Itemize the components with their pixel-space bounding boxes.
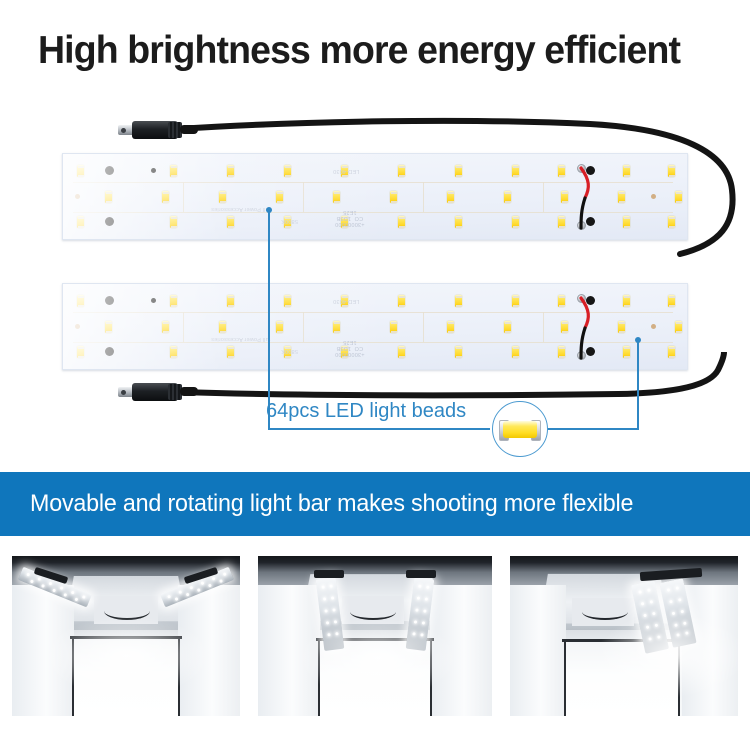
- led-bead: [77, 346, 84, 358]
- solder-pad: [75, 194, 80, 199]
- lightbox-interior: [12, 556, 240, 716]
- led-chip-inset: [492, 401, 548, 457]
- led-bead: [333, 321, 340, 333]
- infographic-page: High brightness more energy efficient: [0, 0, 750, 750]
- solder-pad: [651, 324, 656, 329]
- callout-leader-vertical-right: [637, 340, 639, 429]
- led-bead: [170, 216, 177, 228]
- led-bead: [398, 295, 405, 307]
- led-bead: [675, 321, 682, 333]
- dc-plug-bottom: [118, 380, 198, 404]
- led-bead: [284, 165, 291, 177]
- led-bead: [170, 295, 177, 307]
- led-bead: [276, 321, 283, 333]
- callout-leader-vertical-left: [268, 210, 270, 429]
- led-bead: [276, 191, 283, 203]
- led-bead: [398, 216, 405, 228]
- led-bead: [227, 165, 234, 177]
- led-board-top: LED-4030 full Power Accessories 5800K +3…: [62, 153, 688, 240]
- light-glow: [298, 618, 458, 698]
- led-bead: [447, 321, 454, 333]
- hatch-cord: [582, 604, 628, 620]
- led-bead: [162, 191, 169, 203]
- board-print-line-a: full Power Accessories: [211, 336, 270, 342]
- mount-hole: [105, 166, 114, 175]
- page-title: High brightness more energy efficient: [38, 26, 700, 76]
- led-bead: [170, 165, 177, 177]
- board-print-model: LED-4030: [333, 168, 359, 174]
- light-glow: [42, 616, 212, 696]
- led-bead: [668, 216, 675, 228]
- led-bead: [390, 191, 397, 203]
- led-bead: [623, 216, 630, 228]
- board-print-line-a: full Power Accessories: [211, 206, 270, 212]
- board-print-spec: +30000000 CO 1D3B 1E25: [335, 209, 364, 227]
- led-bead: [398, 165, 405, 177]
- led-bead: [284, 295, 291, 307]
- gallery-photo-1[interactable]: [12, 556, 240, 716]
- led-bead: [105, 191, 112, 203]
- gallery-photo-2[interactable]: [258, 556, 492, 716]
- led-bead: [668, 165, 675, 177]
- led-bead: [227, 216, 234, 228]
- solder-pad: [651, 194, 656, 199]
- lightbox-interior: [510, 556, 738, 716]
- led-bead: [219, 191, 226, 203]
- feature-banner-text: Movable and rotating light bar makes sho…: [30, 490, 633, 518]
- led-bead: [455, 165, 462, 177]
- mount-hole: [151, 168, 156, 173]
- led-bead: [77, 295, 84, 307]
- led-bead: [390, 321, 397, 333]
- mount-hole: [105, 296, 114, 305]
- led-bead: [105, 321, 112, 333]
- mount-hole: [151, 298, 156, 303]
- led-bead: [333, 191, 340, 203]
- board-print-line-b: 5800K: [281, 218, 298, 224]
- gallery-photo-3[interactable]: [510, 556, 738, 716]
- led-bead: [668, 295, 675, 307]
- callout-leader-horizontal: [268, 428, 490, 430]
- board-print-model: LED-4030: [333, 298, 359, 304]
- dc-plug-top: [118, 118, 198, 142]
- light-glow: [596, 612, 738, 698]
- led-bead: [618, 191, 625, 203]
- led-bead: [512, 295, 519, 307]
- led-bead: [447, 191, 454, 203]
- led-chip-body: [503, 421, 537, 438]
- board-wires-top: [563, 162, 609, 234]
- led-bead: [162, 321, 169, 333]
- led-bead: [618, 321, 625, 333]
- lightbox-interior: [258, 556, 492, 716]
- led-bead: [623, 165, 630, 177]
- solder-pad: [75, 324, 80, 329]
- mount-hole: [105, 217, 114, 226]
- tent-wall-left: [510, 585, 566, 716]
- led-bead: [504, 191, 511, 203]
- led-bead: [219, 321, 226, 333]
- led-bead: [512, 165, 519, 177]
- led-bead: [455, 216, 462, 228]
- tent-frame-edge-left: [564, 642, 566, 716]
- led-bead: [512, 216, 519, 228]
- feature-banner: Movable and rotating light bar makes sho…: [0, 472, 750, 536]
- mount-hole: [105, 347, 114, 356]
- led-bead: [77, 165, 84, 177]
- callout-leader-horizontal-right: [546, 428, 639, 430]
- led-bead: [623, 295, 630, 307]
- led-bead: [675, 191, 682, 203]
- led-bead: [227, 295, 234, 307]
- led-bead: [455, 295, 462, 307]
- led-bar-left-mount: [314, 570, 344, 578]
- led-bead: [504, 321, 511, 333]
- led-bar-right-mount: [406, 570, 436, 578]
- callout-label: 64pcs LED light beads: [266, 399, 466, 423]
- led-bead: [77, 216, 84, 228]
